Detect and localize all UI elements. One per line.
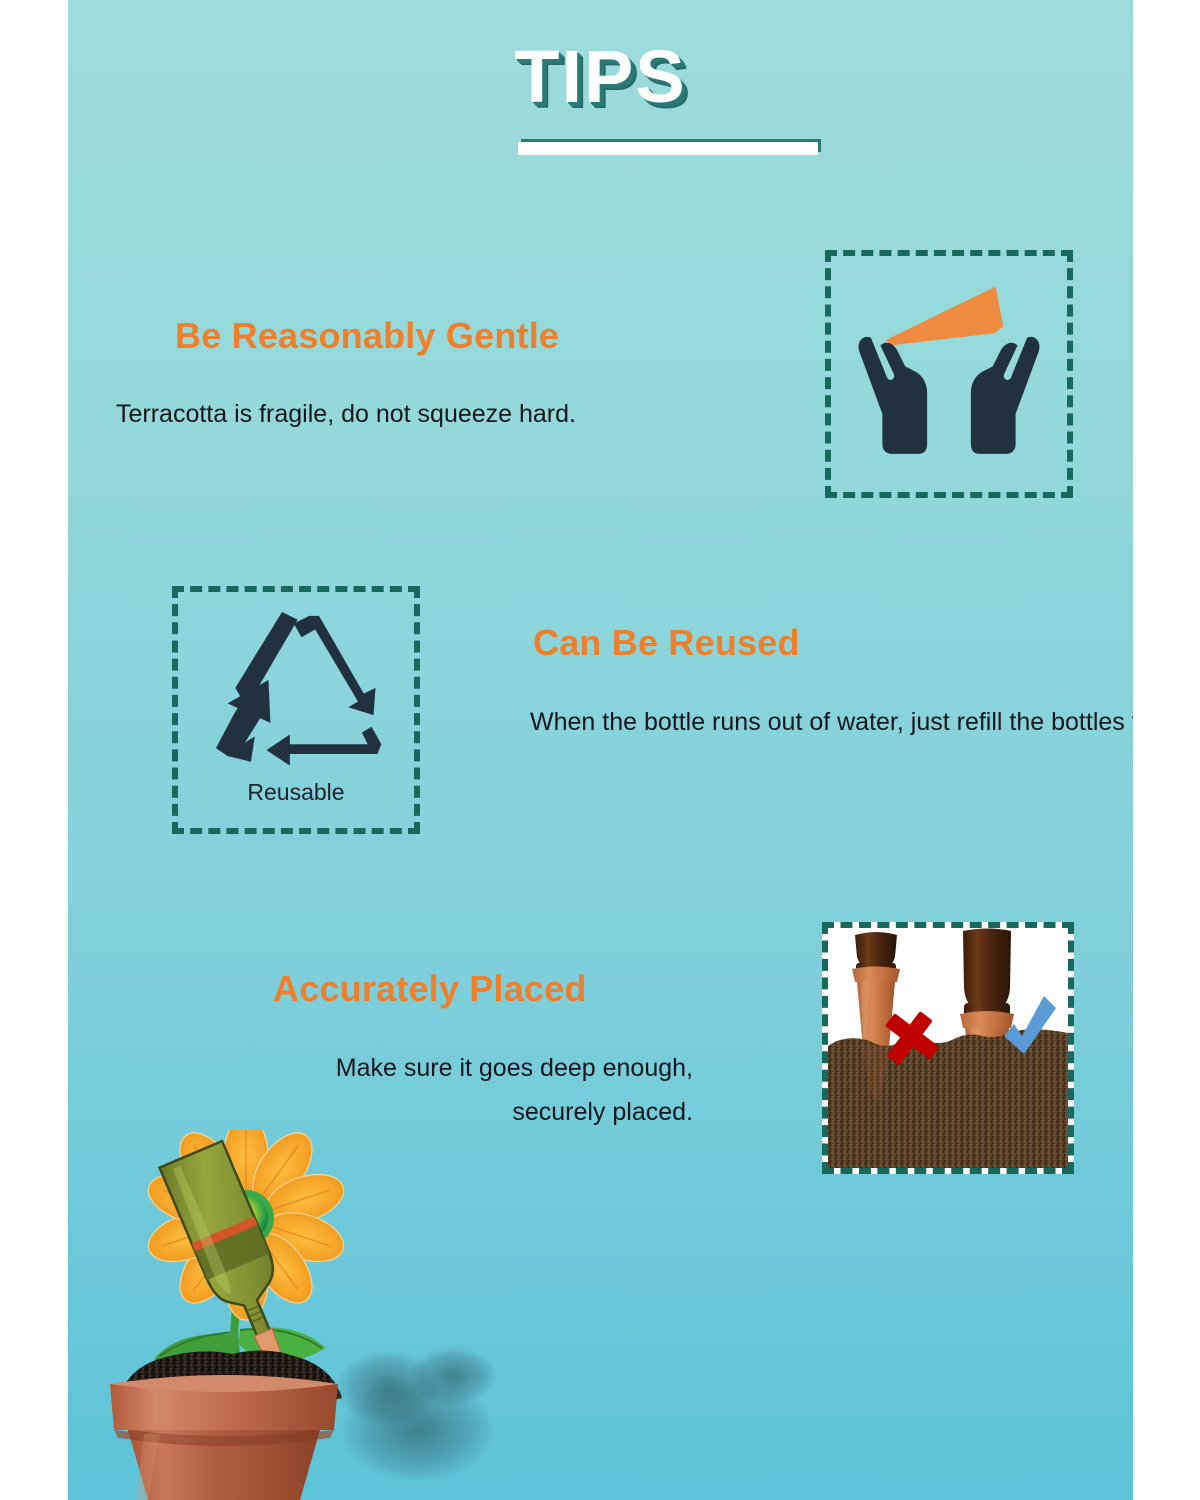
- tip-icon-frame-reusable: Reusable: [172, 586, 420, 834]
- tip-body-can-be-reused: When the bottle runs out of water, just …: [530, 700, 1133, 744]
- tip-icon-frame-gentle: [825, 250, 1073, 498]
- tip-body-be-reasonably-gentle: Terracotta is fragile, do not squeeze ha…: [116, 392, 576, 436]
- tip-body-accurately-placed: Make sure it goes deep enough, securely …: [253, 1046, 693, 1134]
- tip-body-line-1: When the bottle runs out of water,: [530, 708, 904, 736]
- tip-body-line-2: just refill the bottles to use again.: [911, 708, 1133, 736]
- tip-heading-be-reasonably-gentle: Be Reasonably Gentle: [175, 315, 559, 357]
- reusable-caption: Reusable: [178, 779, 414, 806]
- page-title: TIPS: [68, 40, 1133, 114]
- tip-body-line-1: Make sure it goes deep enough,: [253, 1046, 693, 1090]
- tip-heading-accurately-placed: Accurately Placed: [273, 968, 587, 1010]
- tip-icon-frame-placement: [822, 922, 1074, 1174]
- title-text: TIPS: [514, 40, 686, 114]
- title-underline-bar: [518, 142, 818, 155]
- recycle-triangle-icon: [200, 610, 405, 790]
- tip-body-line-2: securely placed.: [253, 1090, 693, 1134]
- potted-flower-decoration: [88, 1130, 558, 1500]
- hands-holding-terracotta-icon: [831, 256, 1067, 492]
- spike-depth-photo: [828, 928, 1068, 1168]
- poster-canvas: TIPS Be Reasonably Gentle Terracotta is …: [68, 0, 1133, 1500]
- tip-heading-can-be-reused: Can Be Reused: [533, 622, 800, 664]
